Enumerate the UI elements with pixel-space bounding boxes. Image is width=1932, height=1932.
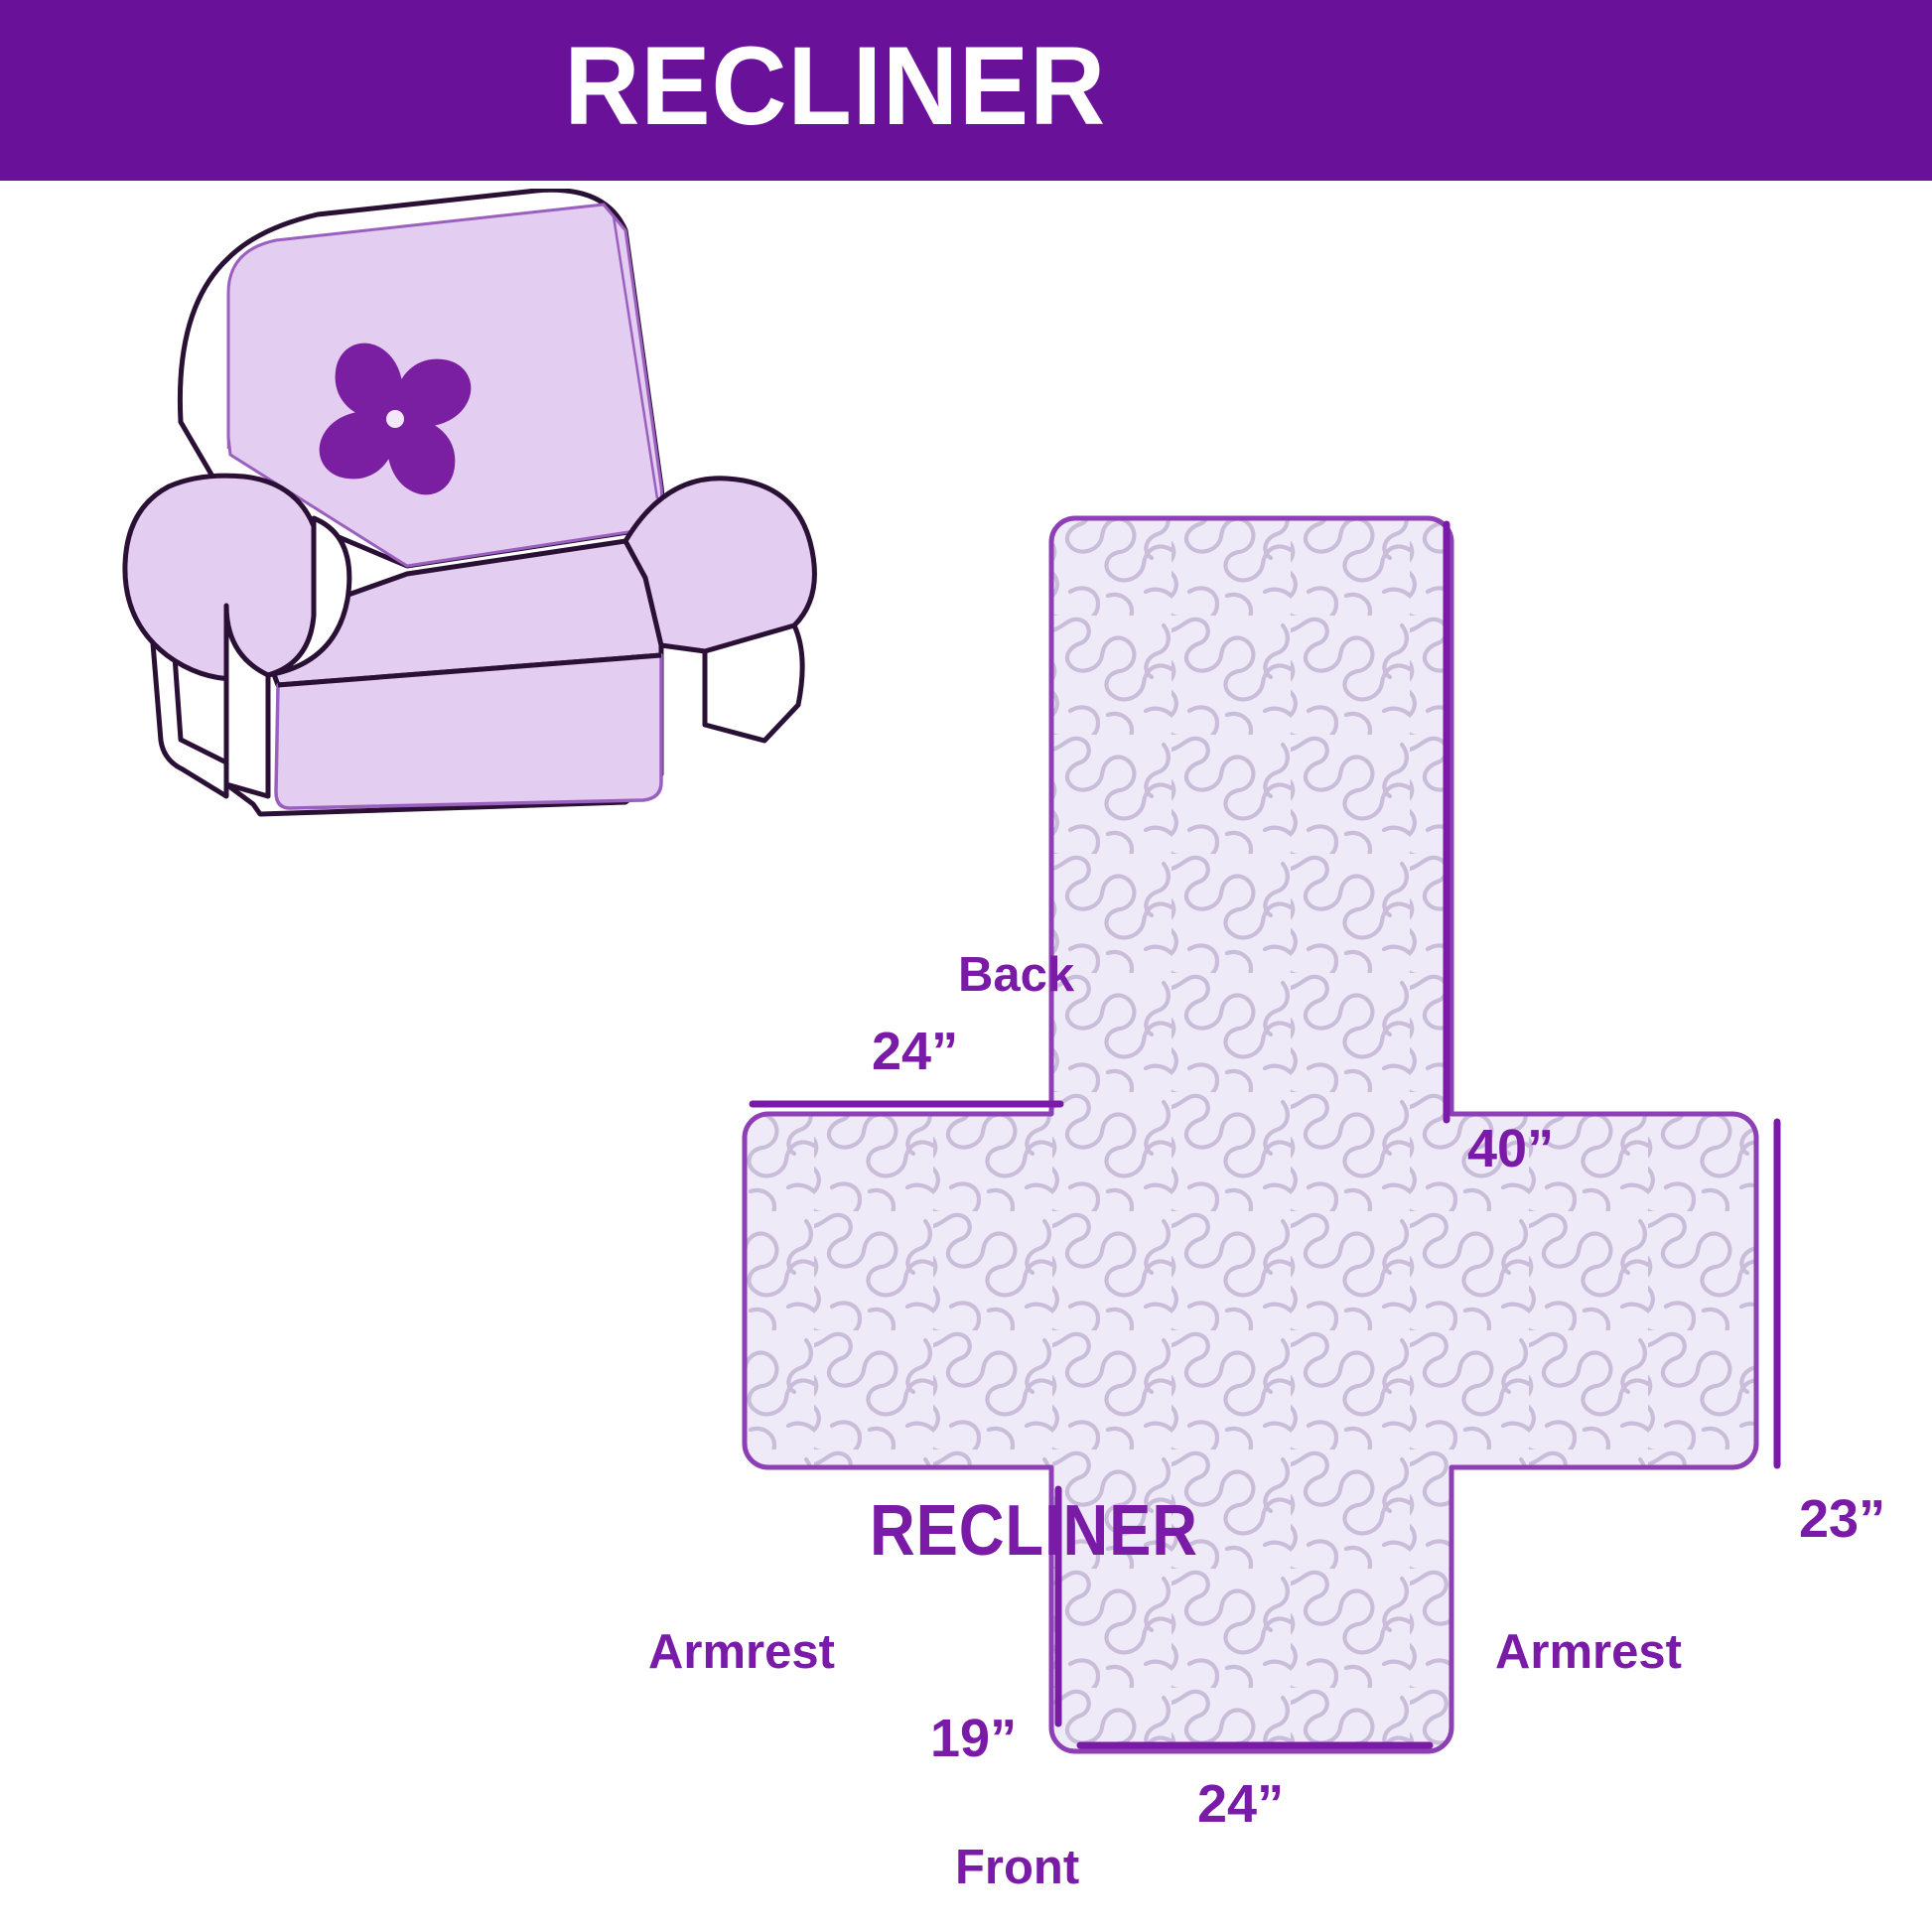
panel-label-armrest-left: Armrest xyxy=(648,1628,835,1677)
center-product-label: RECLINER xyxy=(870,1495,1198,1567)
panel-label-armrest-right: Armrest xyxy=(1495,1628,1682,1677)
dimension-label-armrest-depth: 23” xyxy=(1799,1492,1885,1546)
cover-pattern-diagram: Back Armrest Armrest Front RECLINER 40” … xyxy=(695,496,1866,1807)
dimension-label-front-height: 19” xyxy=(930,1712,1017,1765)
recliner-cover-size-chart: RECLINER xyxy=(0,0,1932,1932)
cover-fabric-fill xyxy=(695,496,1866,1807)
panel-label-front: Front xyxy=(955,1844,1079,1892)
dimension-label-front-width: 24” xyxy=(1197,1777,1284,1831)
panel-label-back: Back xyxy=(958,951,1074,1000)
dimension-label-back-height: 40” xyxy=(1467,1122,1554,1175)
page-title: RECLINER xyxy=(564,31,1106,142)
pinwheel-fan-logo xyxy=(320,344,472,495)
dimension-label-back-width: 24” xyxy=(872,1025,958,1078)
header-banner: RECLINER xyxy=(0,0,1932,181)
